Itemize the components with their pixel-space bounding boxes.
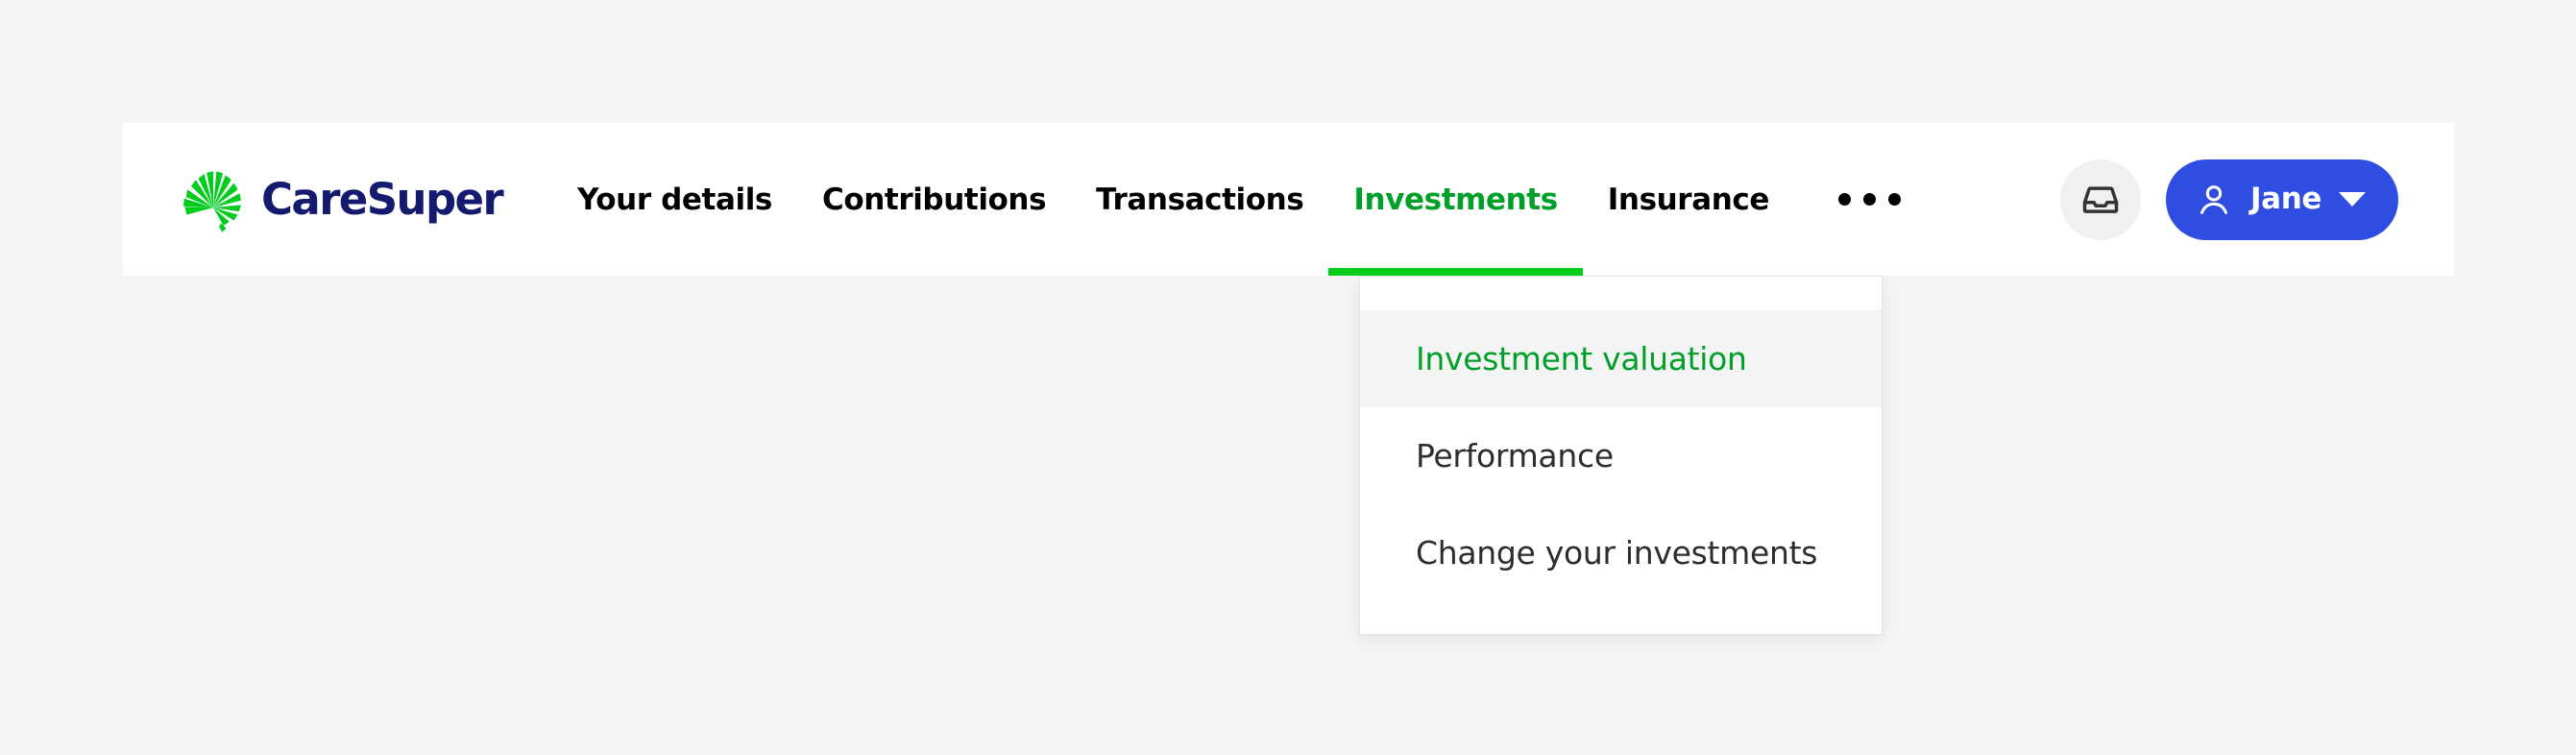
logo-wordmark: CareSuper <box>261 178 502 221</box>
user-menu-button[interactable]: Jane <box>2166 159 2398 240</box>
ellipsis-dot-2 <box>1863 193 1876 206</box>
nav-item-transactions[interactable]: Transactions <box>1071 123 1328 276</box>
page-root: CareSuper Your details Contributions Tra… <box>0 0 2576 755</box>
nav-item-your-details[interactable]: Your details <box>552 123 797 276</box>
user-person-icon <box>2195 181 2233 219</box>
ellipsis-dot-3 <box>1888 193 1901 206</box>
nav-item-insurance[interactable]: Insurance <box>1583 123 1794 276</box>
inbox-button[interactable] <box>2060 159 2141 240</box>
logo-home-link[interactable]: CareSuper <box>181 166 502 233</box>
caresuper-fan-logo-icon <box>181 166 246 233</box>
dropdown-item-investment-valuation[interactable]: Investment valuation <box>1360 310 1882 407</box>
nav-more-button[interactable] <box>1806 123 1933 276</box>
inbox-tray-icon <box>2079 179 2122 221</box>
nav-item-contributions[interactable]: Contributions <box>797 123 1071 276</box>
ellipsis-horizontal-icon <box>1838 193 1851 206</box>
primary-nav: Your details Contributions Transactions … <box>552 123 1933 276</box>
header-actions: Jane <box>2060 159 2398 240</box>
dropdown-item-performance[interactable]: Performance <box>1360 407 1882 504</box>
nav-item-investments[interactable]: Investments <box>1328 123 1582 276</box>
site-header: CareSuper Your details Contributions Tra… <box>123 123 2454 276</box>
user-name-label: Jane <box>2250 184 2321 214</box>
investments-dropdown-menu: Investment valuation Performance Change … <box>1359 276 1883 635</box>
chevron-down-icon <box>2339 192 2366 207</box>
dropdown-item-change-your-investments[interactable]: Change your investments <box>1360 504 1882 601</box>
